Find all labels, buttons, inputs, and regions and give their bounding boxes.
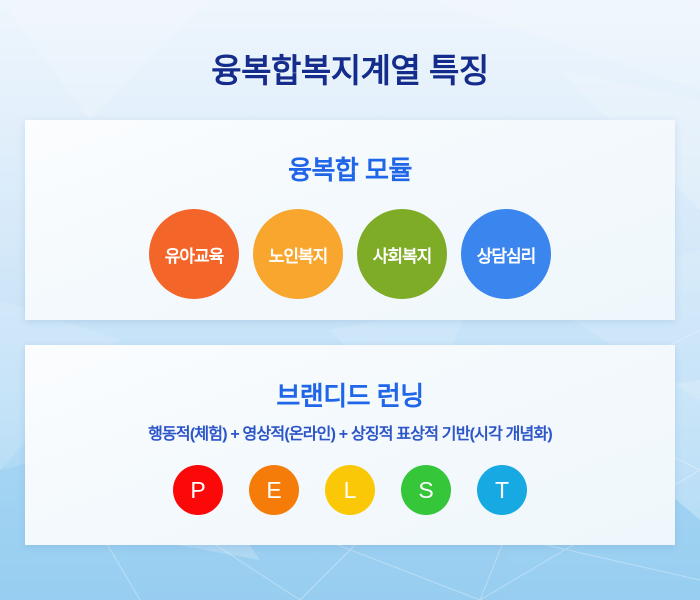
- module-circle-label: 사회복지: [373, 242, 432, 267]
- pelst-circle-label: T: [495, 477, 509, 504]
- card-branded-subtitle: 행동적(체험) + 영상적(온라인) + 상징적 표상적 기반(시각 개념화): [25, 420, 675, 444]
- module-circle-label: 상담심리: [477, 242, 536, 267]
- module-circle-label: 노인복지: [269, 242, 328, 267]
- module-circle-social-welfare[interactable]: 사회복지: [357, 209, 447, 299]
- card-branded-learning: 브랜디드 런닝 행동적(체험) + 영상적(온라인) + 상징적 표상적 기반(…: [25, 345, 675, 545]
- pelst-circle-label: E: [266, 477, 281, 504]
- pelst-circle-label: S: [418, 477, 433, 504]
- module-circle-counseling-psychology[interactable]: 상담심리: [461, 209, 551, 299]
- module-circle-row: 유아교육 노인복지 사회복지 상담심리: [25, 209, 675, 299]
- module-circle-early-childhood-education[interactable]: 유아교육: [149, 209, 239, 299]
- pelst-circle-row: P E L S T: [25, 465, 675, 515]
- pelst-circle-p[interactable]: P: [173, 465, 223, 515]
- card-branded-title: 브랜디드 런닝: [25, 376, 675, 413]
- infographic-canvas: 융복합복지계열 특징 융복합 모듈 유아교육 노인복지 사회복지 상담심리 브랜…: [0, 0, 700, 600]
- card-modules: 융복합 모듈 유아교육 노인복지 사회복지 상담심리: [25, 120, 675, 320]
- pelst-circle-label: P: [190, 477, 205, 504]
- module-circle-label: 유아교육: [165, 242, 224, 267]
- pelst-circle-t[interactable]: T: [477, 465, 527, 515]
- pelst-circle-l[interactable]: L: [325, 465, 375, 515]
- page-title: 융복합복지계열 특징: [0, 44, 700, 92]
- pelst-circle-s[interactable]: S: [401, 465, 451, 515]
- card-modules-title: 융복합 모듈: [25, 150, 675, 187]
- module-circle-elderly-welfare[interactable]: 노인복지: [253, 209, 343, 299]
- pelst-circle-label: L: [344, 477, 357, 504]
- pelst-circle-e[interactable]: E: [249, 465, 299, 515]
